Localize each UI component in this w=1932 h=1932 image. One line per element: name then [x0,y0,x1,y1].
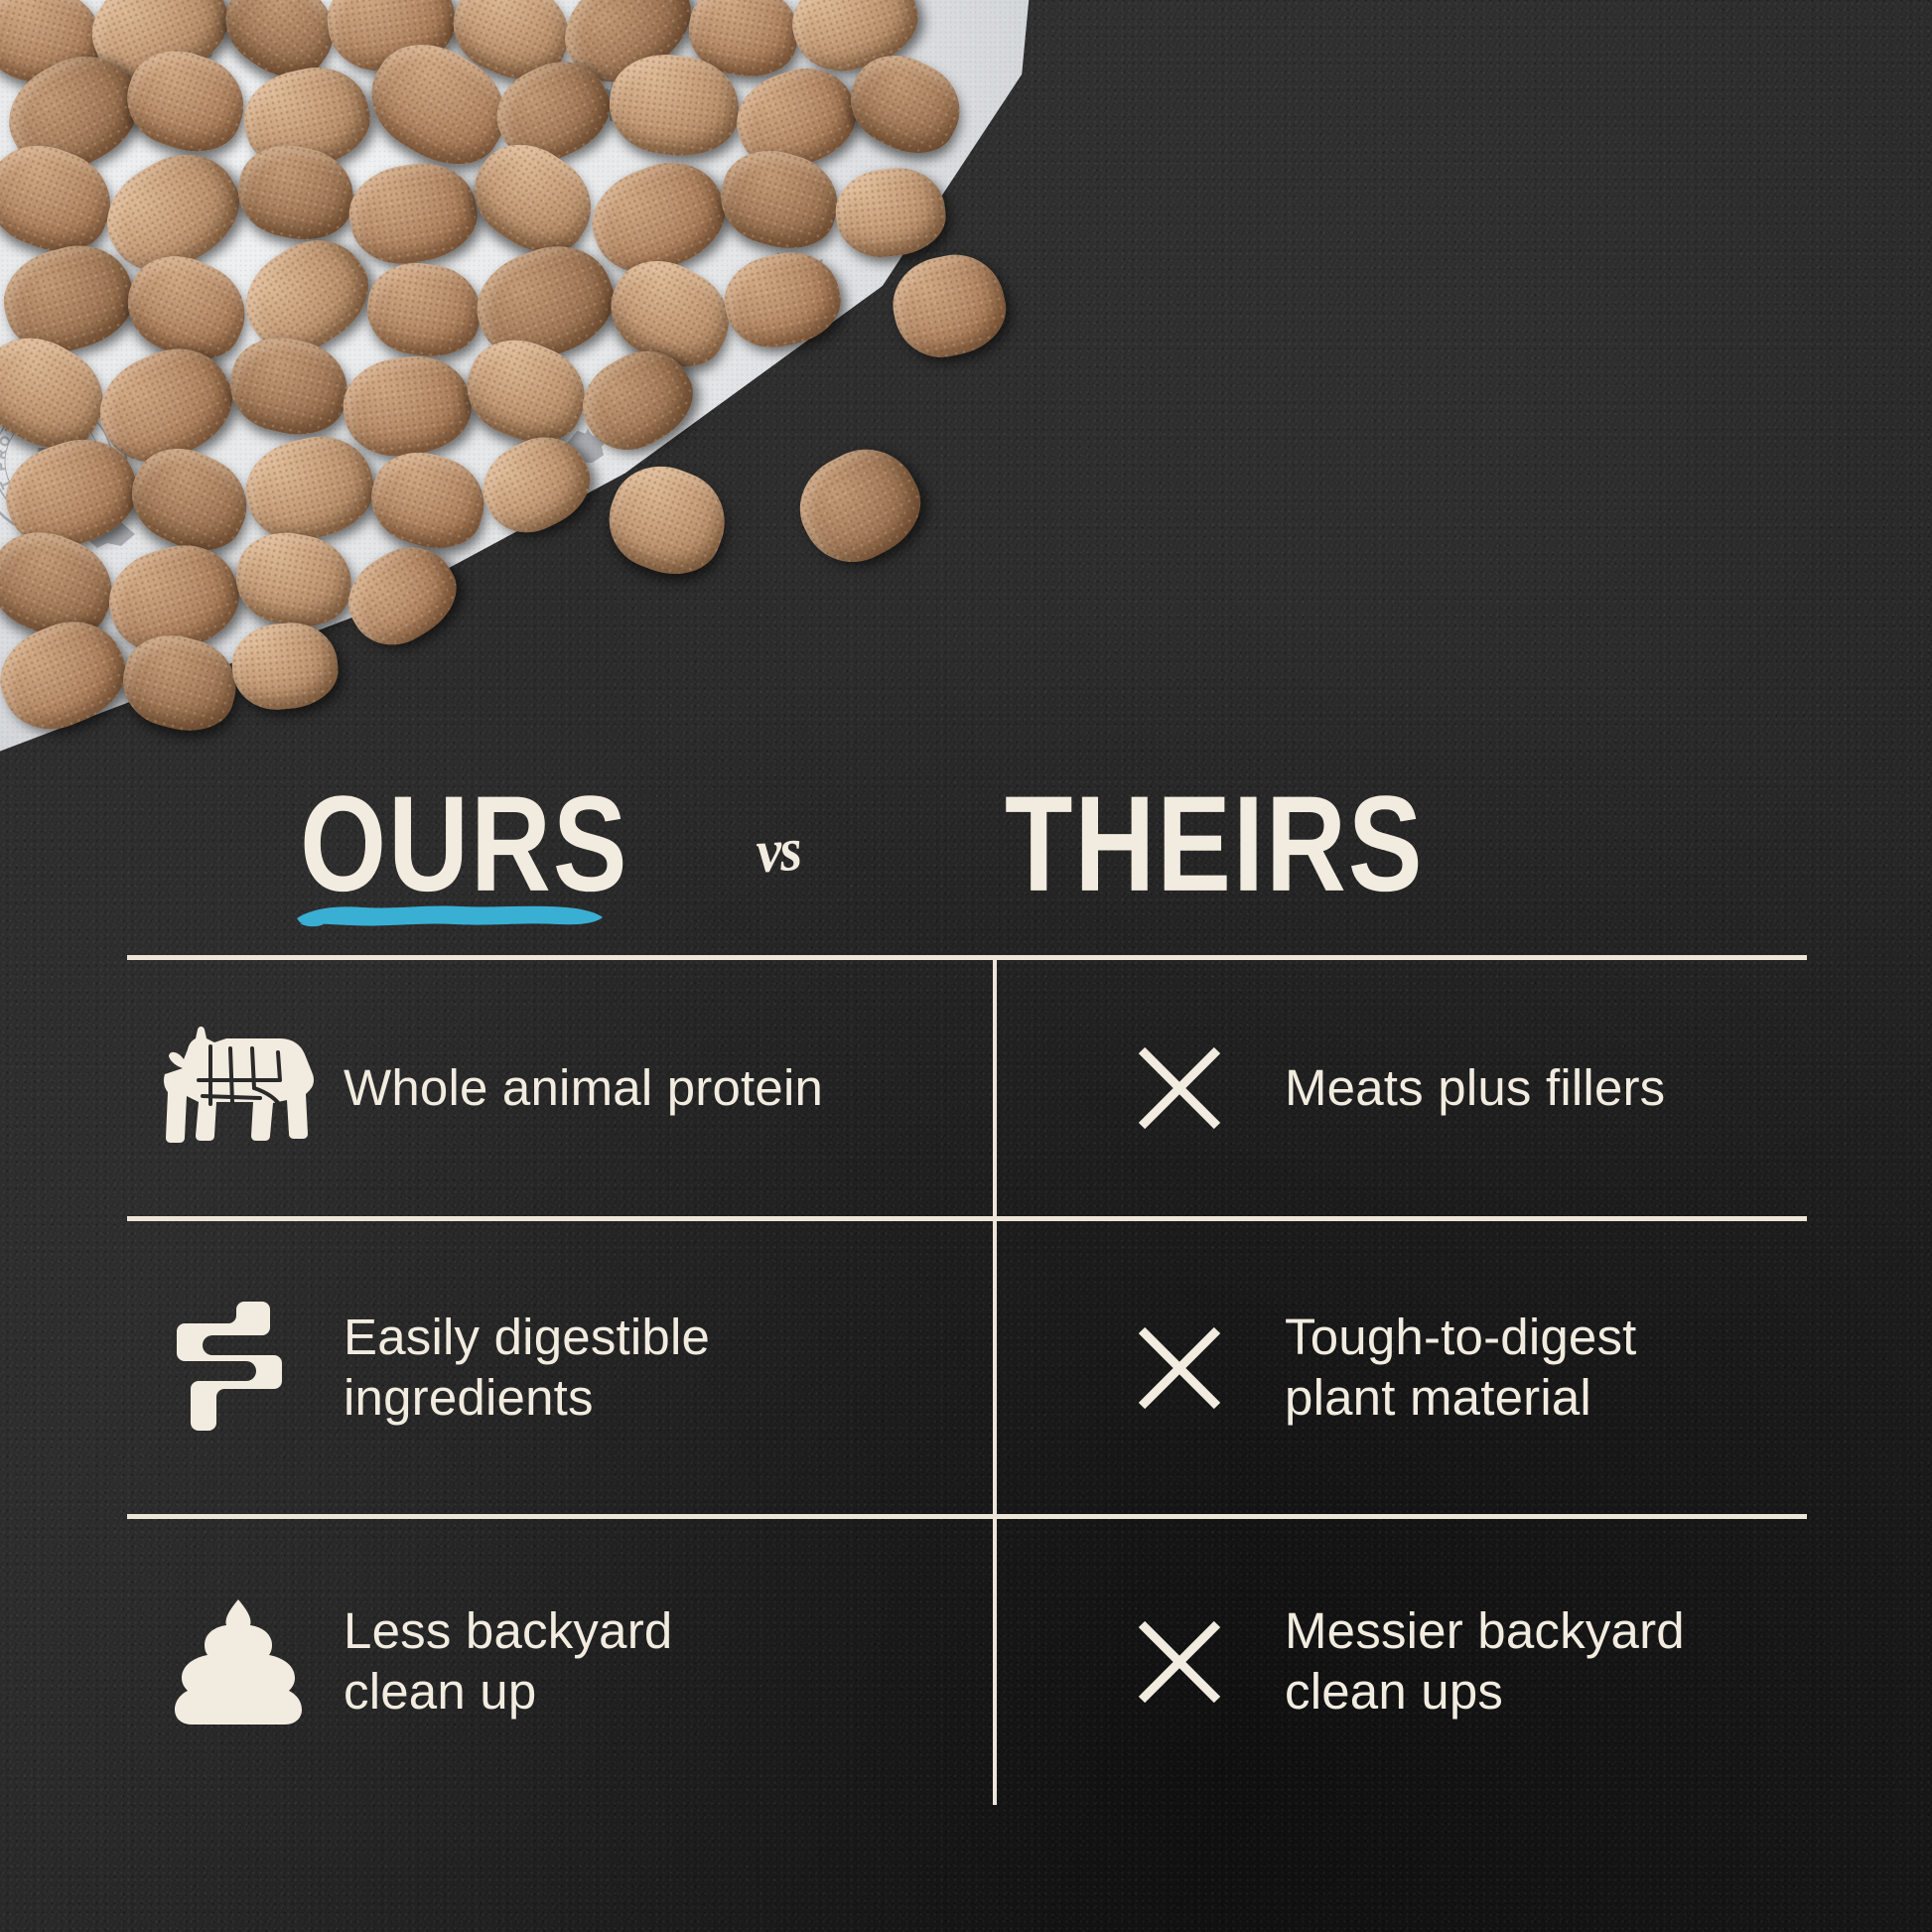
row-2-ours-cell: Easily digestible ingredientsEasily dige… [127,1221,993,1514]
row-1-ours-cell: Whole animal protein [127,960,993,1216]
row-1-ours-label: Whole animal protein [344,1058,823,1119]
x-mark-icon [1110,1616,1249,1708]
comparison-block: OURS vs THEIRS [127,755,1807,1805]
intestine-icon [149,1290,328,1447]
ours-underline-brush [294,897,606,930]
row-2-theirs-label: Tough-to-digest plant materialTough-to-d… [1285,1308,1637,1428]
comparison-header: OURS vs THEIRS [127,755,1807,955]
vs-label: vs [754,815,802,889]
row-3-ours-label: Less backyard clean upLess backyardclean… [344,1601,672,1722]
comparison-grid: Whole animal protein Meats plus fillers [127,960,1807,1805]
table-row: Less backyard clean upLess backyardclean… [127,1519,1807,1805]
row-3-theirs-cell: Messier backyard clean upsMessier backya… [993,1519,1807,1805]
row-1-theirs-label: Meats plus fillers [1285,1058,1665,1119]
row-2-ours-label: Easily digestible ingredientsEasily dige… [344,1308,710,1428]
x-mark-icon [1110,1322,1249,1414]
row-1-theirs-cell: Meats plus fillers [993,960,1807,1216]
table-row: Easily digestible ingredientsEasily dige… [127,1221,1807,1514]
comparison-infographic: BUTCHER CUT PROTEIN [0,0,1932,1932]
row-3-theirs-label: Messier backyard clean upsMessier backya… [1285,1601,1685,1722]
x-mark-icon [1110,1042,1249,1134]
theirs-heading: THEIRS [1005,776,1424,912]
poop-icon [149,1595,328,1728]
row-3-ours-cell: Less backyard clean upLess backyardclean… [127,1519,993,1805]
table-row: Whole animal protein Meats plus fillers [127,960,1807,1216]
row-2-theirs-cell: Tough-to-digest plant materialTough-to-d… [993,1221,1807,1514]
cow-butcher-cut-icon [149,1023,328,1154]
divider-vertical [993,960,997,1805]
ours-heading: OURS [300,776,628,912]
